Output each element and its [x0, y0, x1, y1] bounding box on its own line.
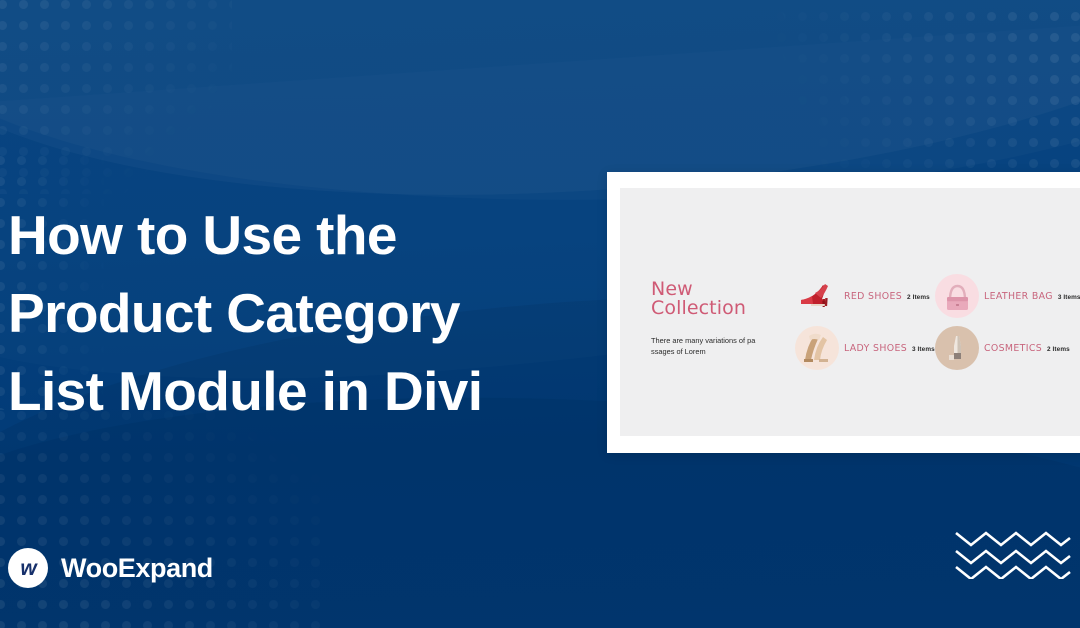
category-count: 2 Items [1047, 346, 1070, 353]
category-item-lady-shoes[interactable]: LADY SHOES 3 Items [795, 324, 935, 372]
cosmetics-lipstick-tube-icon [935, 326, 979, 370]
logo-letter: w [20, 558, 35, 579]
category-item-red-shoes[interactable]: RED SHOES 2 Items [795, 272, 935, 320]
zigzag-lines-icon [954, 525, 1072, 579]
screenshot-card: New Collection There are many variations… [607, 172, 1080, 453]
category-item-cosmetics[interactable]: COSMETICS 2 Items [935, 324, 1080, 372]
brand-name: WooExpand [61, 553, 213, 584]
category-label-group: LEATHER BAG 3 Items [984, 291, 1080, 302]
category-label-group: LADY SHOES 3 Items [844, 343, 935, 354]
category-item-leather-bag[interactable]: LEATHER BAG 3 Items [935, 272, 1080, 320]
red-high-heel-shoes-icon [795, 274, 839, 318]
brand-logo: w WooExpand [8, 548, 213, 588]
product-category-list: RED SHOES 2 Items [795, 272, 1080, 372]
category-name: RED SHOES [844, 291, 902, 302]
screenshot-canvas: New Collection There are many variations… [620, 188, 1080, 436]
pink-leather-handbag-icon [935, 274, 979, 318]
category-label-group: RED SHOES 2 Items [844, 291, 930, 302]
category-name: LEATHER BAG [984, 291, 1053, 302]
category-count: 3 Items [912, 346, 935, 353]
category-name: COSMETICS [984, 343, 1042, 354]
category-count: 3 Items [1058, 294, 1080, 301]
w-circle-icon: w [8, 548, 48, 588]
collection-header: New Collection There are many variations… [651, 280, 786, 357]
category-label-group: COSMETICS 2 Items [984, 343, 1070, 354]
collection-subtitle: There are many variations of pa ssages o… [651, 336, 763, 357]
collection-title: New Collection [651, 280, 786, 318]
promo-banner: How to Use the Product Category List Mod… [0, 0, 1080, 628]
category-name: LADY SHOES [844, 343, 907, 354]
category-count: 2 Items [907, 294, 930, 301]
page-title: How to Use the Product Category List Mod… [8, 196, 578, 430]
nude-lady-shoes-icon [795, 326, 839, 370]
